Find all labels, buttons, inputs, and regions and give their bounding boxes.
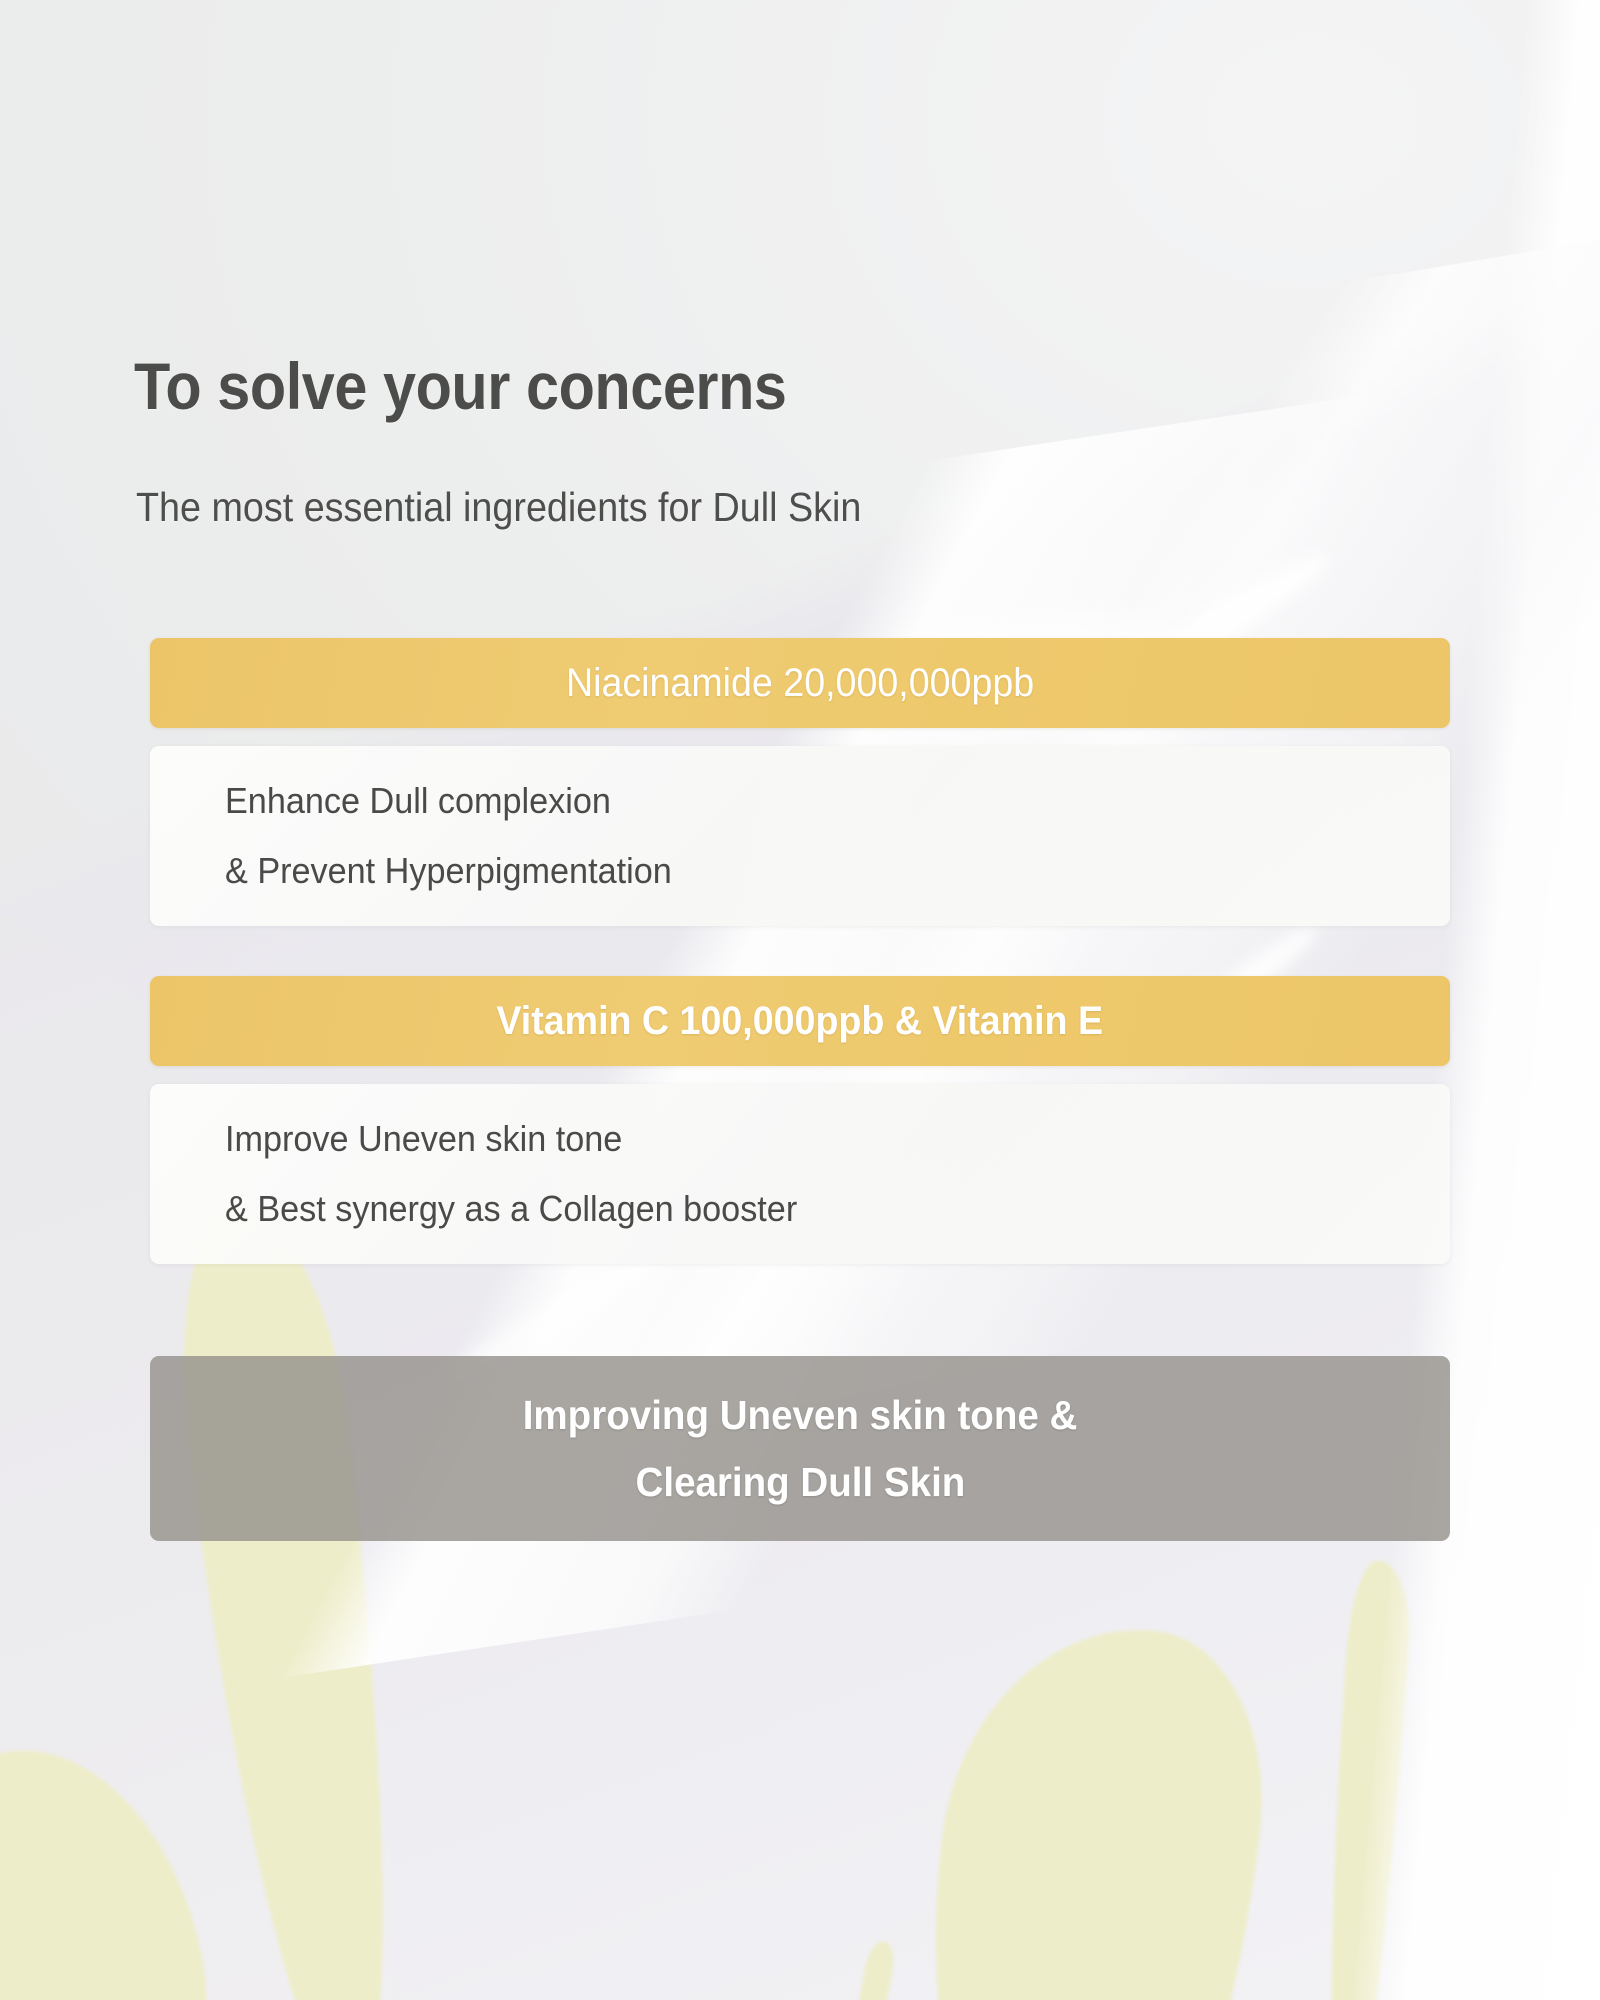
product-detail-page: To solve your concerns The most essentia… xyxy=(0,0,1600,2000)
ingredient-benefit-card-1: Enhance Dull complexion & Prevent Hyperp… xyxy=(150,746,1450,926)
ingredient-benefit-card-2: Improve Uneven skin tone & Best synergy … xyxy=(150,1084,1450,1264)
ingredient-benefit-line: Enhance Dull complexion xyxy=(225,766,1389,836)
serum-leaf-right xyxy=(892,1608,1283,2000)
ingredient-block-niacinamide: Niacinamide 20,000,000ppb Enhance Dull c… xyxy=(150,638,1450,926)
ingredient-headline-label-1: Niacinamide 20,000,000ppb xyxy=(566,663,1034,703)
summary-bar: Improving Uneven skin tone & Clearing Du… xyxy=(150,1356,1450,1541)
summary-line: Clearing Dull Skin xyxy=(635,1449,965,1516)
ingredient-headline-bar-2[interactable]: Vitamin C 100,000ppb & Vitamin E xyxy=(150,976,1450,1066)
ingredient-list: Niacinamide 20,000,000ppb Enhance Dull c… xyxy=(150,638,1450,1541)
summary-line: Improving Uneven skin tone & xyxy=(523,1382,1078,1449)
ingredient-block-vitamin-c-e: Vitamin C 100,000ppb & Vitamin E Improve… xyxy=(150,976,1450,1264)
ingredient-headline-label-2: Vitamin C 100,000ppb & Vitamin E xyxy=(497,1001,1104,1041)
ingredient-benefit-line: & Best synergy as a Collagen booster xyxy=(225,1174,1389,1244)
ingredient-headline-bar-1[interactable]: Niacinamide 20,000,000ppb xyxy=(150,638,1450,728)
page-title: To solve your concerns xyxy=(134,348,787,424)
ingredient-benefit-line: & Prevent Hyperpigmentation xyxy=(225,836,1389,906)
ingredient-benefit-line: Improve Uneven skin tone xyxy=(225,1104,1389,1174)
serum-strip-far-right xyxy=(1311,1559,1415,2000)
serum-tick-small xyxy=(842,1939,898,2000)
block-spacer xyxy=(150,926,1450,976)
page-subtitle: The most essential ingredients for Dull … xyxy=(136,484,861,531)
